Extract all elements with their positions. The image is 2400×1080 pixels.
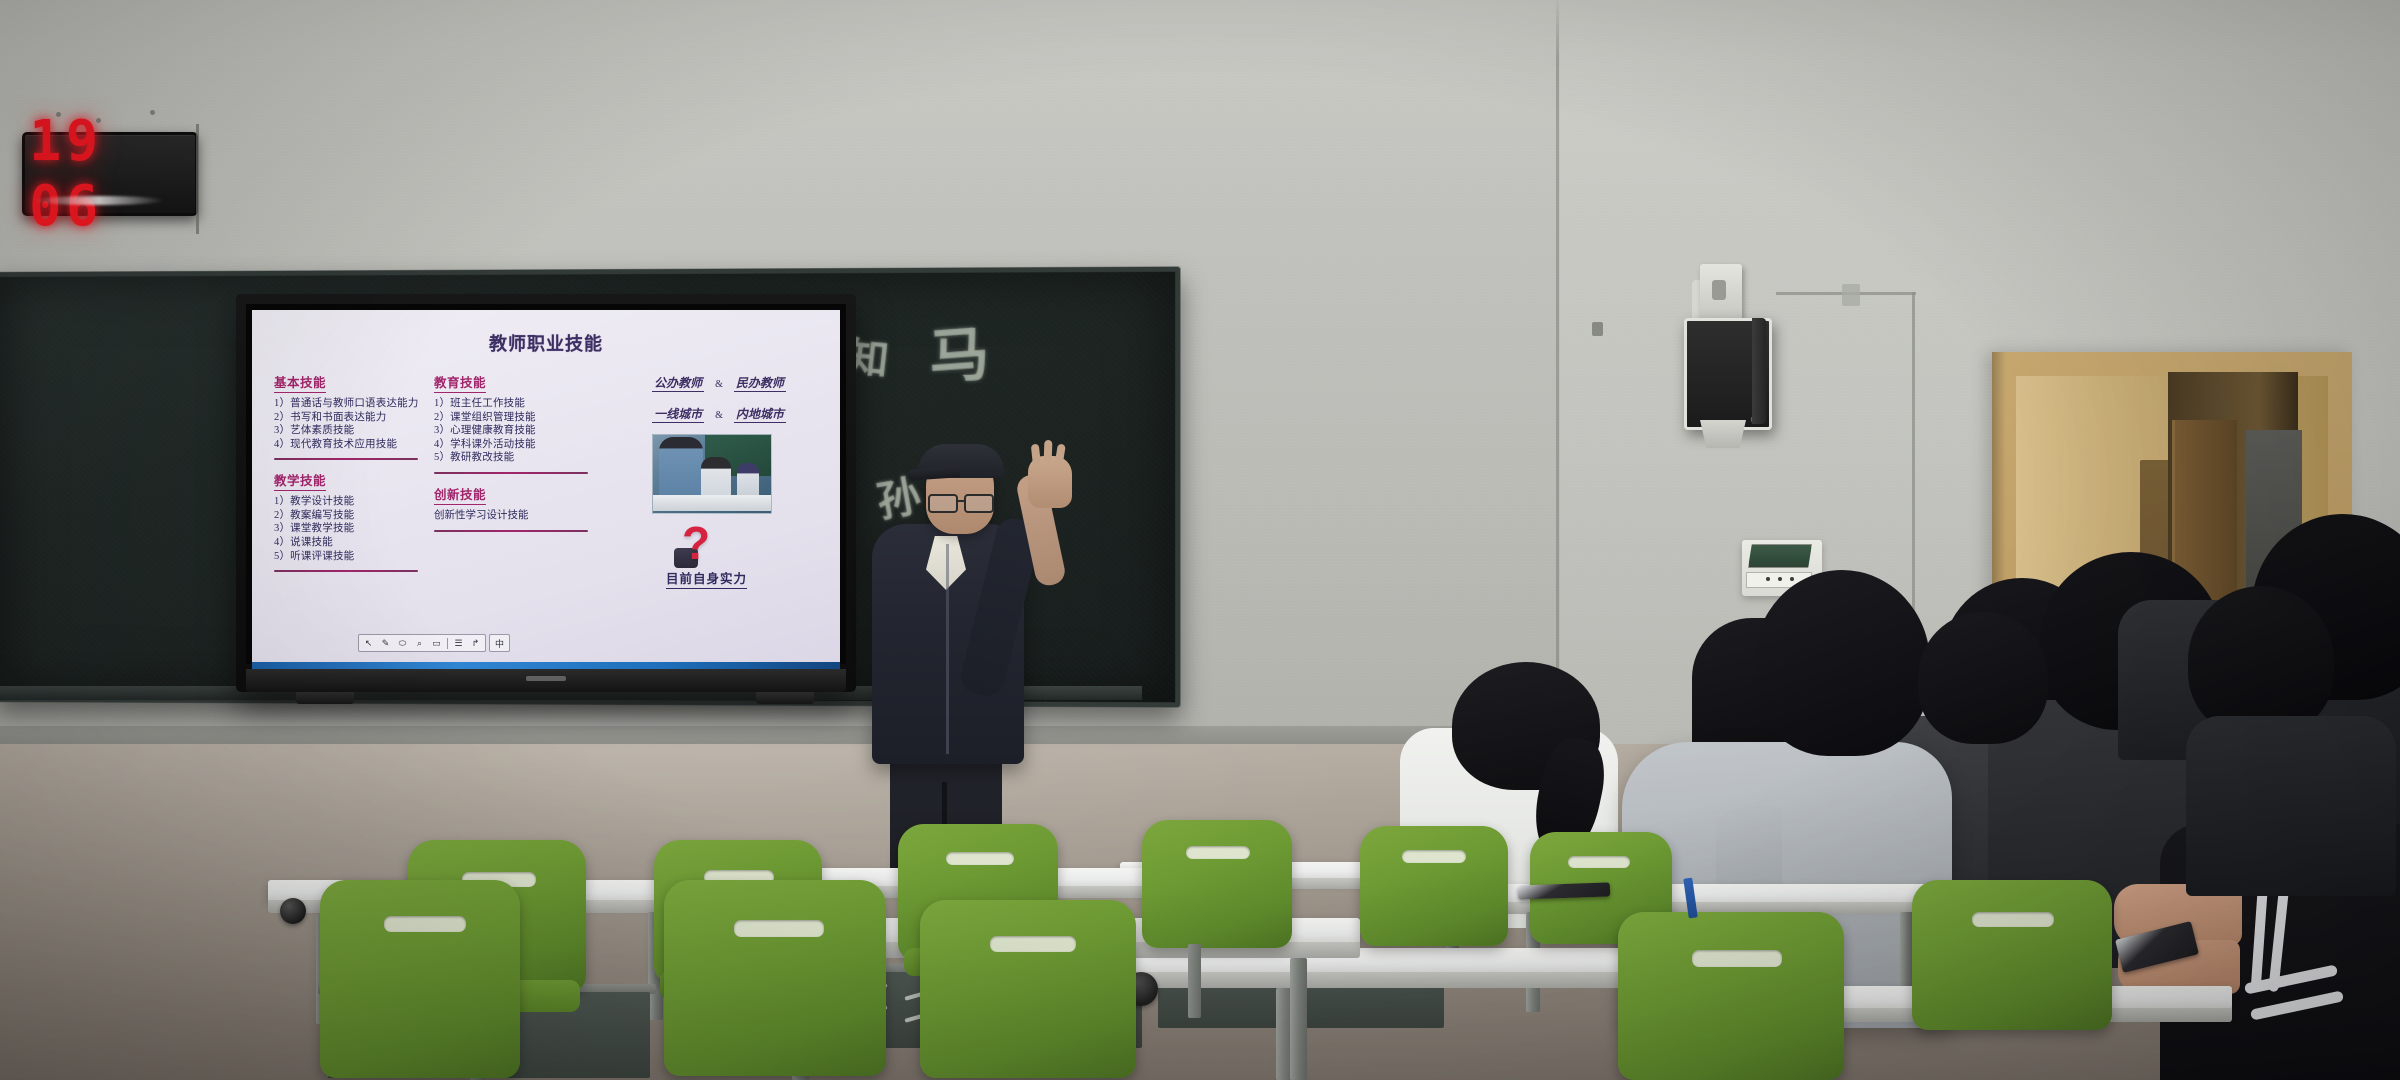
- list-item: 4）学科课外活动技能: [434, 438, 594, 452]
- slide-column-left: 基本技能 1）普通话与教师口语表达能力 2）书写和书面表达能力 3）艺体素质技能…: [274, 372, 424, 582]
- highlighter-tool-icon[interactable]: ⬭: [395, 636, 410, 650]
- section-divider: [274, 458, 418, 460]
- presentation-toolbar[interactable]: ↖ ✎ ⬭ ⌕ ▭ ☰ ↱ 中: [358, 634, 510, 652]
- display-mount-right: [756, 692, 814, 704]
- list-item: 4）现代教育技术应用技能: [274, 438, 424, 452]
- list-item: 5）教研教改技能: [434, 451, 594, 465]
- clock-glare: [34, 196, 164, 205]
- teacher-glasses-bridge: [956, 500, 966, 502]
- comparison-block: 公办教师 & 民办教师 一线城市 & 内地城市: [604, 374, 834, 422]
- innovation-item: 创新性学习设计技能: [434, 509, 594, 523]
- section-divider: [434, 472, 588, 474]
- section-divider: [434, 530, 588, 532]
- slide-column-middle: 教育技能 1）班主任工作技能 2）课堂组织管理技能 3）心理健康教育技能 4）学…: [434, 372, 594, 582]
- panel-button-dot[interactable]: [1778, 577, 1782, 581]
- presentation-slide: 教师职业技能 基本技能 1）普通话与教师口语表达能力 2）书写和书面表达能力 3…: [252, 310, 840, 662]
- comparison-row: 公办教师 & 民办教师: [604, 374, 834, 391]
- advance-tool-icon[interactable]: ↱: [468, 636, 483, 650]
- section-heading-basic: 基本技能: [274, 372, 326, 393]
- flat-panel-display[interactable]: 教师职业技能 基本技能 1）普通话与教师口语表达能力 2）书写和书面表达能力 3…: [236, 294, 856, 692]
- list-item: 1）教学设计技能: [274, 495, 424, 509]
- teacher-glasses-left: [928, 494, 958, 513]
- list-item: 1）普通话与教师口语表达能力: [274, 397, 424, 411]
- comparison-right: 内地城市: [734, 407, 786, 423]
- question-mark-icon: ?: [682, 520, 710, 566]
- comparison-left: 一线城市: [652, 407, 704, 423]
- classroom-photo: [652, 434, 772, 514]
- teacher-glasses-right: [964, 494, 994, 513]
- section-list-education: 1）班主任工作技能 2）课堂组织管理技能 3）心理健康教育技能 4）学科课外活动…: [434, 397, 594, 465]
- ceiling-shadow: [0, 0, 2400, 60]
- slide-title: 教师职业技能: [262, 330, 830, 356]
- display-screen[interactable]: 教师职业技能 基本技能 1）普通话与教师口语表达能力 2）书写和书面表达能力 3…: [252, 310, 840, 662]
- wall-outlet: [1592, 322, 1603, 336]
- list-item: 2）教案编写技能: [274, 509, 424, 523]
- display-logo: [526, 676, 566, 681]
- toolbar-group-tools[interactable]: ↖ ✎ ⬭ ⌕ ▭ ☰ ↱: [358, 634, 486, 652]
- panel-display: [1748, 544, 1812, 568]
- comparison-amp: &: [707, 410, 731, 421]
- comparison-amp: &: [707, 379, 731, 390]
- photo-student-2: [737, 463, 759, 497]
- list-item: 4）说课技能: [274, 536, 424, 550]
- baseboard: [0, 726, 1560, 746]
- toolbar-group-ime[interactable]: 中: [489, 634, 510, 652]
- section-heading-teaching: 教学技能: [274, 470, 326, 491]
- panel-button-dot[interactable]: [1766, 577, 1770, 581]
- speaker-side: [1752, 318, 1766, 424]
- pen-tool-icon[interactable]: ✎: [378, 636, 393, 650]
- list-item: 3）艺体素质技能: [274, 424, 424, 438]
- wall-screw: [96, 118, 101, 123]
- screen-tool-icon[interactable]: ▭: [429, 636, 444, 650]
- conduit-junction-box: [1842, 284, 1860, 306]
- list-item: 2）书写和书面表达能力: [274, 411, 424, 425]
- section-list-teaching: 1）教学设计技能 2）教案编写技能 3）课堂教学技能 4）说课技能 5）听课评课…: [274, 495, 424, 563]
- teacher-finger: [1044, 440, 1053, 464]
- list-item: 5）听课评课技能: [274, 550, 424, 564]
- slide-list-tool-icon[interactable]: ☰: [451, 636, 466, 650]
- comparison-left: 公办教师: [652, 376, 704, 392]
- photo-desk: [653, 495, 771, 511]
- clock-cable: [196, 124, 199, 234]
- speaker-base: [1700, 420, 1746, 448]
- wall-screw: [56, 112, 61, 117]
- slide-column-right: 公办教师 & 民办教师 一线城市 & 内地城市: [604, 372, 834, 582]
- wall-screw: [150, 110, 155, 115]
- section-heading-education: 教育技能: [434, 372, 486, 393]
- teacher-jacket-zip: [946, 544, 949, 754]
- section-list-basic: 1）普通话与教师口语表达能力 2）书写和书面表达能力 3）艺体素质技能 4）现代…: [274, 397, 424, 451]
- display-mount-left: [296, 692, 354, 704]
- section-divider: [274, 570, 418, 572]
- panel-button-dot[interactable]: [1790, 577, 1794, 581]
- ime-indicator-icon[interactable]: 中: [492, 636, 507, 650]
- magnifier-tool-icon[interactable]: ⌕: [412, 636, 427, 650]
- comparison-right: 民办教师: [734, 376, 786, 392]
- comparison-row: 一线城市 & 内地城市: [604, 405, 834, 422]
- classroom-scene: 19 06 认 知 马 孙 教师职业技能 基本技能 1）普通话与教师口语表达能力: [0, 0, 2400, 1080]
- list-item: 3）课堂教学技能: [274, 522, 424, 536]
- list-item: 2）课堂组织管理技能: [434, 411, 594, 425]
- list-item: 3）心理健康教育技能: [434, 424, 594, 438]
- photo-teacher: [659, 437, 703, 499]
- speaker-bracket: [1700, 264, 1742, 320]
- display-accent-strip: [252, 662, 840, 669]
- list-item: 1）班主任工作技能: [434, 397, 594, 411]
- clock-time: 19 06: [29, 109, 191, 239]
- section-heading-innovation: 创新技能: [434, 484, 486, 505]
- strength-label: 目前自身实力: [666, 568, 747, 589]
- pointer-tool-icon[interactable]: ↖: [361, 636, 376, 650]
